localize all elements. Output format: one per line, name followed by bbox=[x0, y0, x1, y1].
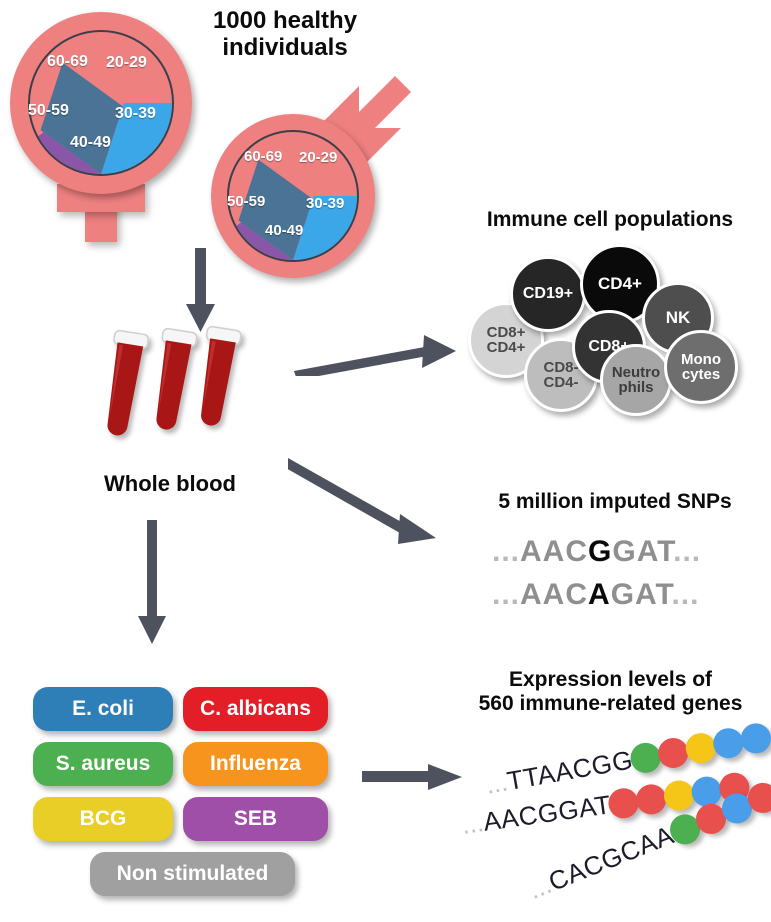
whole-blood-tubes bbox=[100, 330, 260, 450]
male-pie-label-40-49: 40-49 bbox=[265, 222, 303, 239]
cell-label: CD4+ bbox=[598, 275, 642, 293]
female-pie-label-40-49: 40-49 bbox=[70, 134, 111, 152]
cohort-title-line2: individuals bbox=[170, 35, 400, 62]
female-pie-label-30-39: 30-39 bbox=[115, 105, 156, 123]
arrow-cohort-to-blood bbox=[178, 248, 226, 336]
whole-blood-label: Whole blood bbox=[70, 472, 270, 497]
stimulus-bcg[interactable]: BCG bbox=[33, 797, 173, 841]
cell-label: CD19+ bbox=[523, 286, 573, 302]
rna-bead bbox=[738, 721, 771, 756]
arrow-blood-to-snps bbox=[288, 458, 458, 548]
stimulus-label: E. coli bbox=[72, 697, 134, 721]
rna-bead bbox=[717, 789, 756, 828]
rna-strand-1: ...TTAACGG bbox=[483, 720, 771, 801]
cell-label: NK bbox=[666, 309, 691, 327]
rna-sequence: TTAACGG bbox=[505, 744, 636, 797]
cell-label-line1: Mono bbox=[681, 352, 721, 367]
rna-bead bbox=[607, 786, 641, 820]
rna-bead bbox=[718, 770, 752, 804]
cohort-title: 1000 healthy individuals bbox=[170, 8, 400, 62]
immune-cell-cd19p: CD19+ bbox=[510, 256, 586, 332]
cell-label-line1: CD8+ bbox=[487, 325, 526, 340]
male-gender-symbol: 20-29 30-39 40-49 50-59 60-69 bbox=[203, 78, 418, 258]
cell-label-line2: cytes bbox=[682, 367, 720, 382]
stimulus-non-stimulated[interactable]: Non stimulated bbox=[90, 852, 295, 896]
rna-bead bbox=[635, 782, 669, 816]
immune-cell-neutrophils: Neutro phils bbox=[600, 344, 672, 416]
male-pie-label-20-29: 20-29 bbox=[299, 149, 337, 166]
arrow-stimuli-to-expression bbox=[362, 760, 467, 794]
snp-sequence-row-1: ...AACGGAT... bbox=[492, 535, 701, 569]
snp-prefix: ... bbox=[492, 578, 520, 611]
cell-label-line1: CD8- bbox=[543, 360, 578, 375]
rna-sequence: CACGCAA bbox=[544, 820, 678, 898]
stimulus-label: SEB bbox=[234, 807, 277, 831]
rna-bead bbox=[743, 778, 771, 817]
expression-title-line2: 560 immune-related genes bbox=[458, 692, 763, 716]
stimulus-seb[interactable]: SEB bbox=[183, 797, 328, 841]
rna-bead bbox=[662, 778, 696, 812]
stimulus-label: C. albicans bbox=[200, 697, 311, 721]
snp-section-title: 5 million imputed SNPs bbox=[470, 490, 760, 514]
female-gender-symbol: 20-29 30-39 40-49 50-59 60-69 bbox=[10, 12, 200, 237]
snp-suffix: ... bbox=[671, 578, 699, 611]
snp-prefix: ... bbox=[492, 535, 520, 568]
immune-cell-cluster: CD8+ CD4+ CD19+ CD8- CD4- CD4+ CD8+ NK N… bbox=[452, 240, 762, 415]
immune-section-title: Immune cell populations bbox=[455, 208, 765, 232]
male-pie-label-60-69: 60-69 bbox=[244, 148, 282, 165]
arrow-blood-to-immune bbox=[292, 326, 462, 376]
snp-sequence-row-2: ...AACAGAT... bbox=[492, 578, 699, 612]
rna-bead bbox=[711, 725, 746, 760]
rna-lead: ... bbox=[460, 807, 486, 841]
stimulus-label: S. aureus bbox=[56, 752, 151, 776]
rna-strand-2: ...AACGGAT bbox=[460, 770, 752, 841]
rna-bead bbox=[691, 799, 730, 838]
male-pie-label-50-59: 50-59 bbox=[227, 193, 265, 210]
stimulus-influenza[interactable]: Influenza bbox=[183, 742, 328, 786]
female-pie-label-20-29: 20-29 bbox=[106, 54, 147, 72]
snp-post: GAT bbox=[611, 578, 672, 611]
stimulus-e-coli[interactable]: E. coli bbox=[33, 687, 173, 731]
female-pie-label-50-59: 50-59 bbox=[28, 102, 69, 120]
rna-bead bbox=[683, 730, 718, 765]
stimulus-label: Non stimulated bbox=[117, 862, 269, 886]
rna-bead bbox=[690, 774, 724, 808]
snp-suffix: ... bbox=[673, 535, 701, 568]
figure-canvas: 1000 healthy individuals 20-29 30-39 40-… bbox=[0, 0, 771, 922]
rna-strand-3: ...CACGCAA bbox=[524, 767, 771, 906]
expression-title-line1: Expression levels of bbox=[458, 668, 763, 692]
rna-bead bbox=[656, 735, 691, 770]
cell-label-line1: Neutro bbox=[612, 365, 660, 380]
expression-section-title: Expression levels of 560 immune-related … bbox=[458, 668, 763, 715]
rna-bead bbox=[628, 740, 663, 775]
cell-label-line2: CD4- bbox=[543, 375, 578, 390]
female-pie-label-60-69: 60-69 bbox=[47, 53, 88, 71]
male-pie-label-30-39: 30-39 bbox=[306, 195, 344, 212]
snp-variant: A bbox=[588, 578, 611, 611]
cell-label-line2: phils bbox=[618, 380, 653, 395]
rna-lead: ... bbox=[483, 766, 510, 800]
rna-bead bbox=[665, 810, 704, 849]
stimulus-s-aureus[interactable]: S. aureus bbox=[33, 742, 173, 786]
immune-cell-monocytes: Mono cytes bbox=[664, 330, 738, 404]
stimulus-label: BCG bbox=[80, 807, 127, 831]
stimulus-c-albicans[interactable]: C. albicans bbox=[183, 687, 328, 731]
snp-post: GAT bbox=[612, 535, 673, 568]
snp-variant: G bbox=[588, 535, 612, 568]
cohort-title-line1: 1000 healthy bbox=[170, 8, 400, 35]
cell-label-line2: CD4+ bbox=[487, 340, 526, 355]
snp-pre: AAC bbox=[520, 535, 588, 568]
rna-sequence: AACGGAT bbox=[481, 789, 613, 838]
snp-pre: AAC bbox=[520, 578, 588, 611]
stimulus-label: Influenza bbox=[210, 752, 301, 776]
arrow-blood-to-stimuli bbox=[130, 520, 178, 646]
rna-lead: ... bbox=[524, 869, 556, 906]
